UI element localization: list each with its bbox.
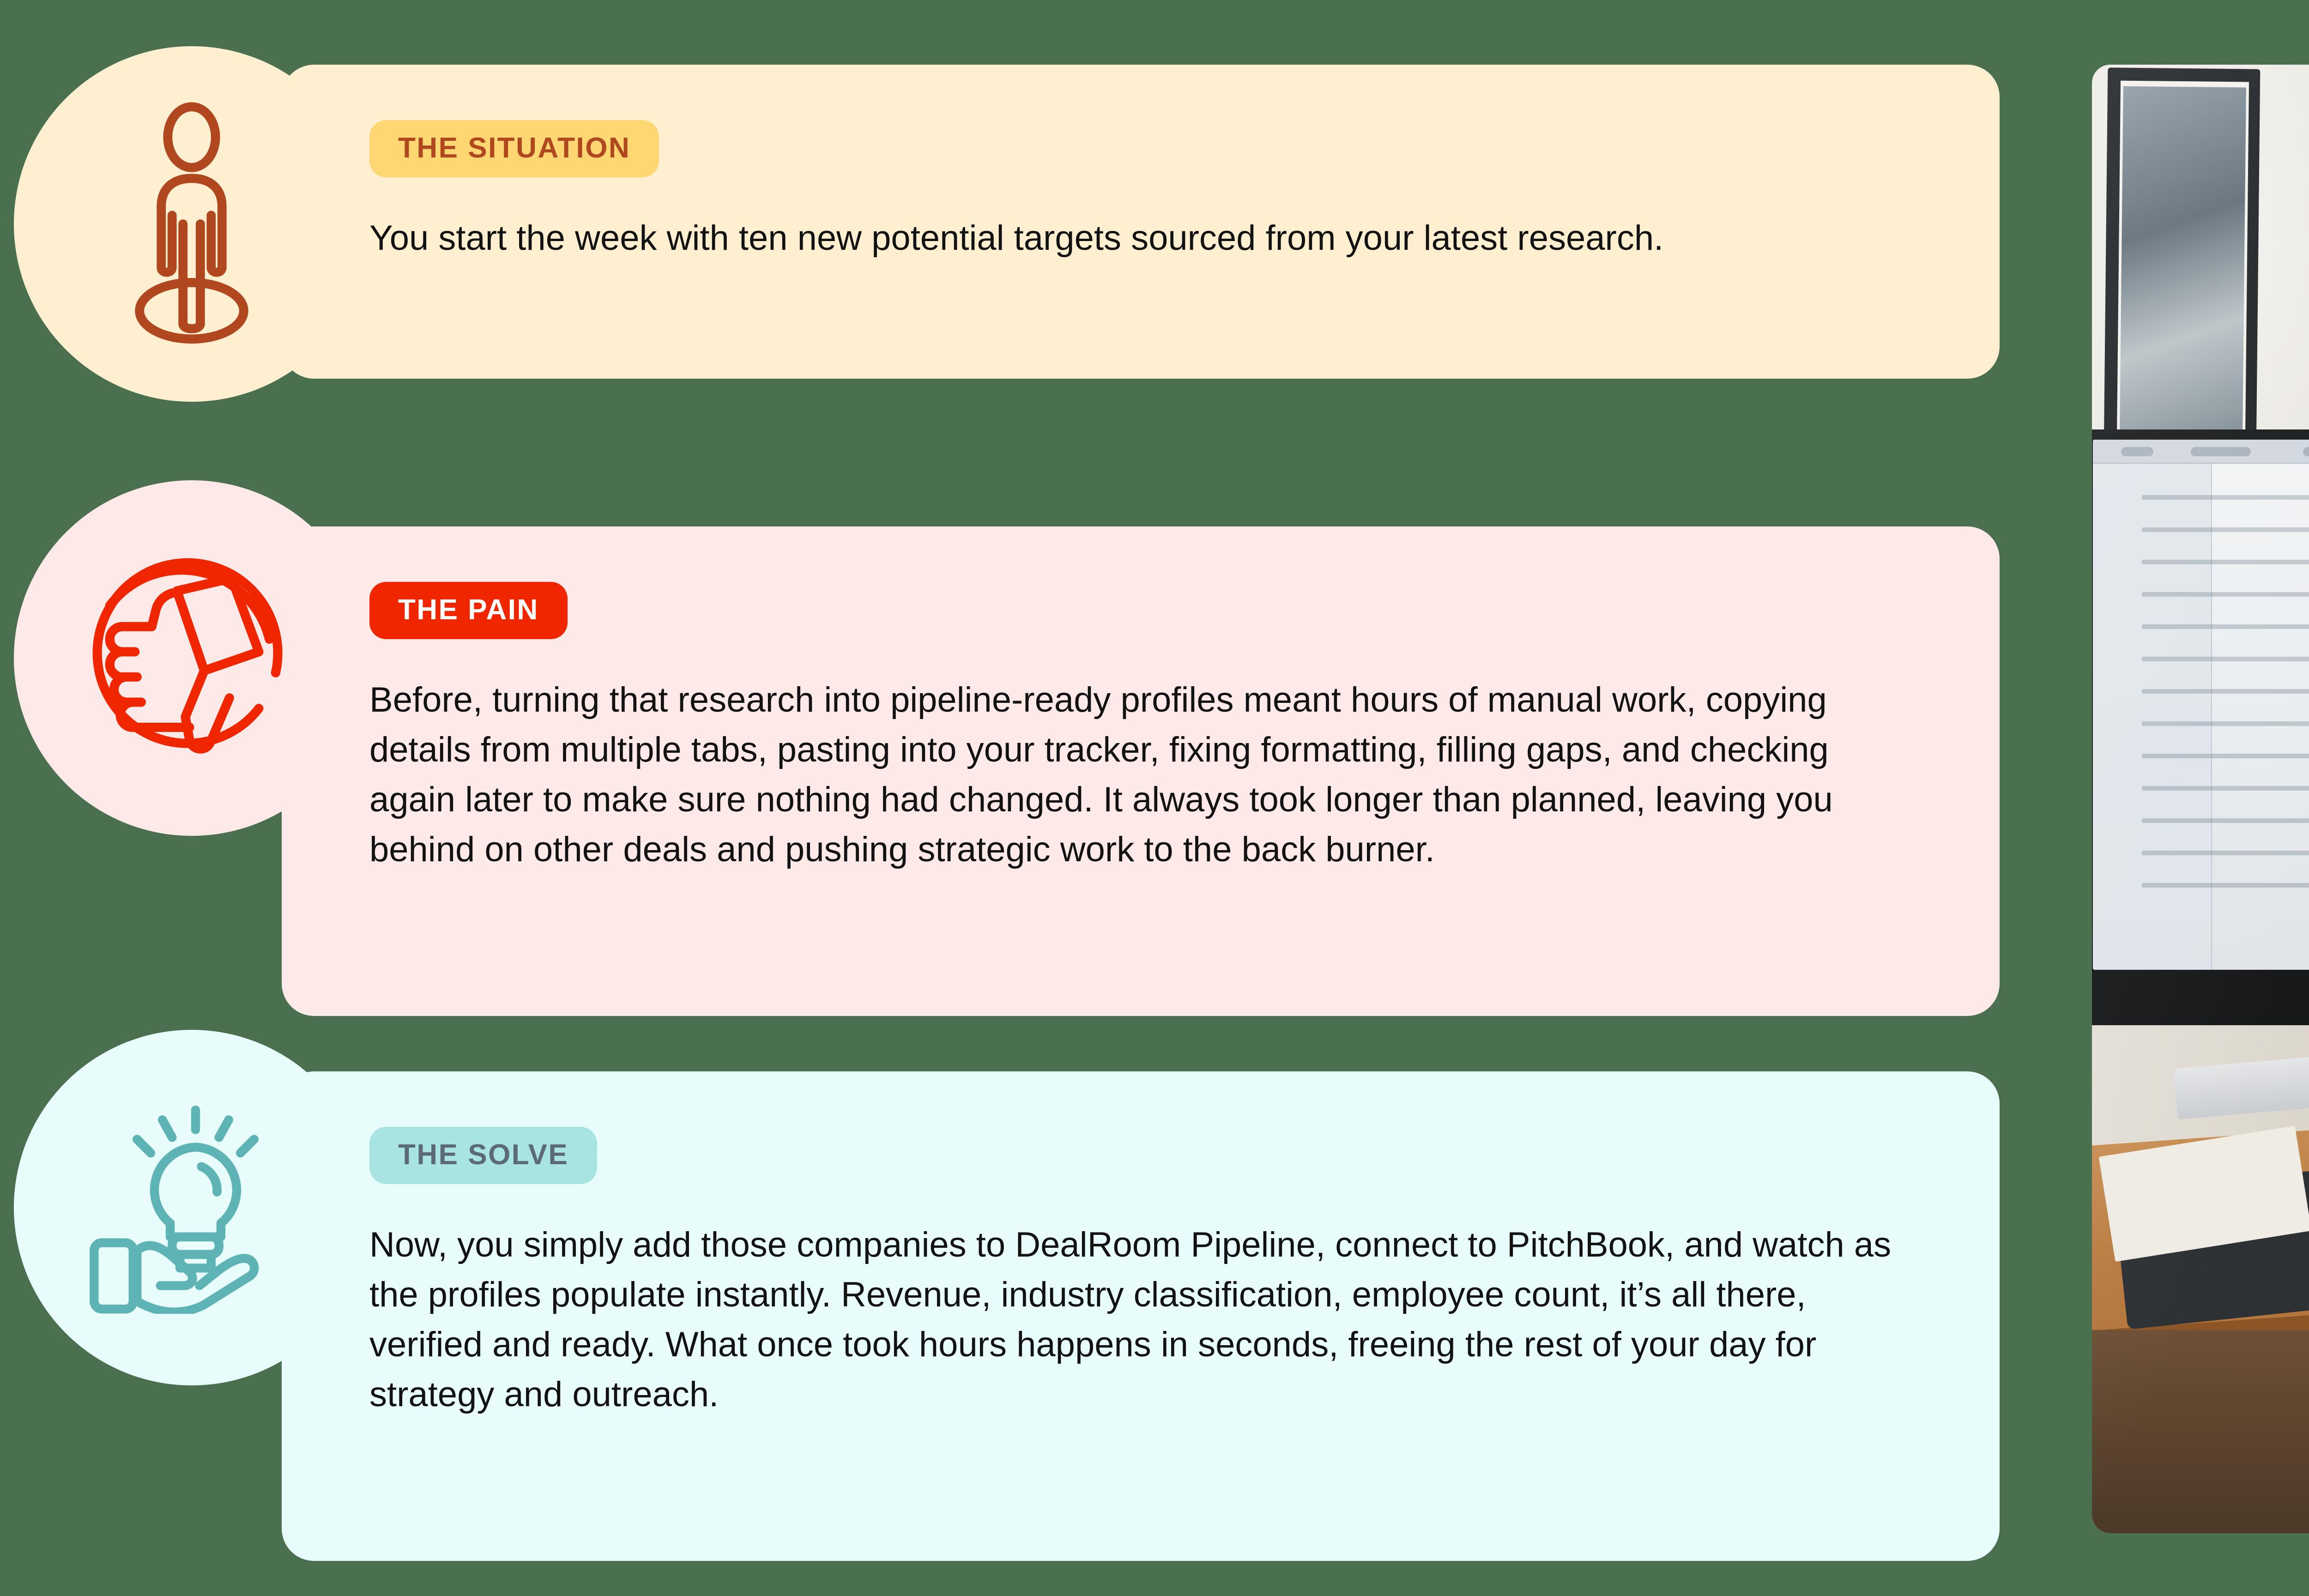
card-solve-body: Now, you simply add those companies to D… <box>369 1220 1921 1420</box>
card-situation-panel: THE SITUATION You start the week with te… <box>282 65 2000 379</box>
badge-the-pain: THE PAIN <box>369 582 568 639</box>
photo-primary-monitor <box>2092 429 2309 1025</box>
badge-the-solve: THE SOLVE <box>369 1127 597 1184</box>
standing-person-icon <box>83 102 300 346</box>
photo-under-desk-area <box>2092 1330 2309 1533</box>
story-cards-column: THE SITUATION You start the week with te… <box>0 0 2041 1596</box>
card-situation-icon-bubble <box>14 46 369 402</box>
photo-framed-picture <box>2104 67 2261 452</box>
card-pain-body: Before, turning that research into pipel… <box>369 675 1921 875</box>
card-pain-icon-bubble <box>14 480 369 836</box>
card-solve-panel: THE SOLVE Now, you simply add those comp… <box>282 1071 2000 1561</box>
lightbulb-in-hand-icon <box>79 1101 305 1314</box>
card-pain-panel: THE PAIN Before, turning that research i… <box>282 526 2000 1016</box>
card-situation-body: You start the week with ten new potentia… <box>369 213 1921 263</box>
office-photo <box>2092 65 2309 1533</box>
badge-the-situation: THE SITUATION <box>369 120 659 177</box>
card-solve-icon-bubble <box>14 1030 369 1385</box>
thumbs-down-icon <box>76 543 307 774</box>
